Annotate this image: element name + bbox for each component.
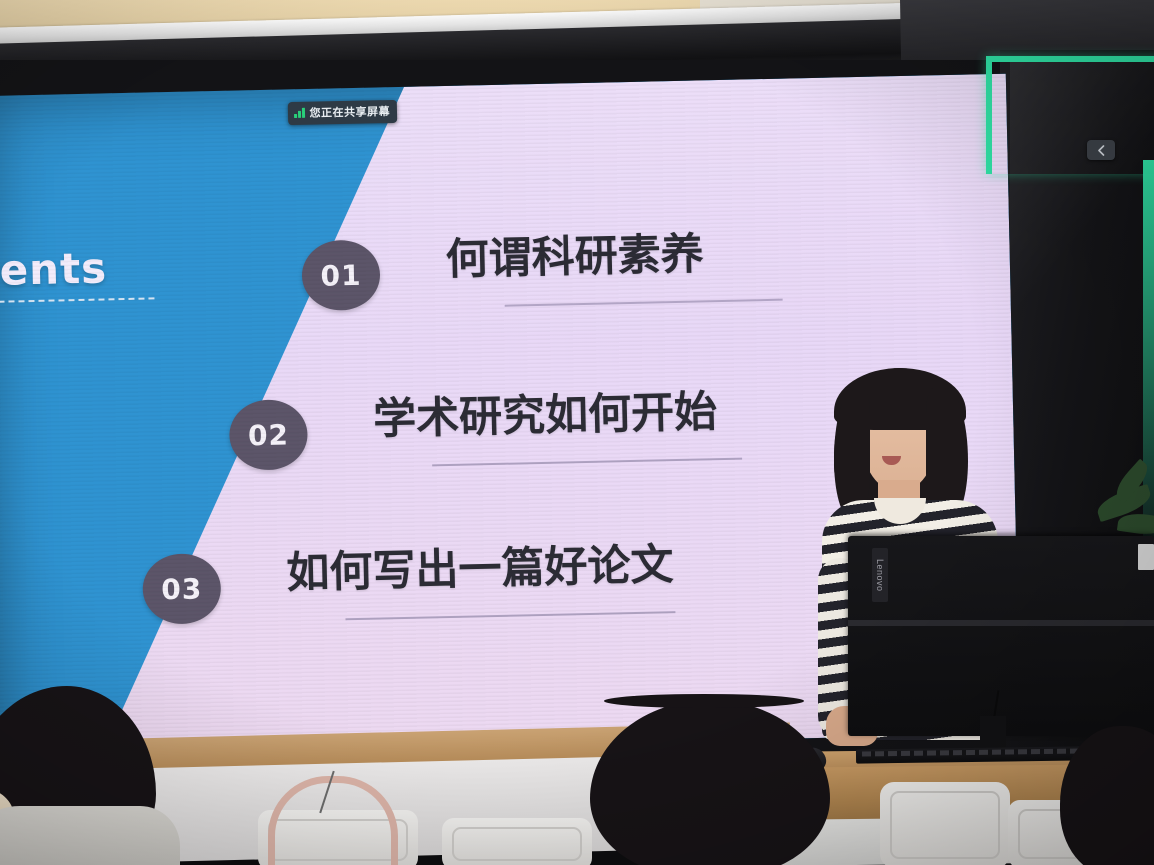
podium-monitor-seam xyxy=(848,620,1154,626)
slide-item-badge: 02 xyxy=(229,399,309,471)
audience-head xyxy=(590,700,830,865)
audience-hair-strands xyxy=(604,694,804,708)
chair xyxy=(880,782,1010,865)
slide-item-body: 学术研究如何开始 xyxy=(373,390,742,468)
slide-item-title: 学术研究如何开始 xyxy=(373,390,742,444)
audience-head xyxy=(1060,726,1154,865)
slide-item-01: 01 何谓科研素养 xyxy=(301,231,782,311)
slide-item-body: 如何写出一篇好论文 xyxy=(286,543,675,621)
podium-monitor xyxy=(848,536,1154,736)
monitor-asset-tag xyxy=(1138,544,1154,570)
chevron-left-icon xyxy=(1097,145,1106,156)
screen-share-label: 您正在共享屏幕 xyxy=(309,103,390,121)
slide-item-body: 何谓科研素养 xyxy=(445,231,782,308)
slide-item-badge: 01 xyxy=(301,239,381,311)
slide-heading-group: ontents xyxy=(0,242,178,305)
collapse-panel-button[interactable] xyxy=(1087,140,1115,160)
slide-item-02: 02 学术研究如何开始 xyxy=(229,390,742,471)
slide-item-03: 03 如何写出一篇好论文 xyxy=(142,543,675,625)
slide-item-badge: 03 xyxy=(142,553,222,625)
audience-member-center xyxy=(580,700,880,865)
slide-heading: ontents xyxy=(0,242,178,297)
screenshot-stage: ontents 01 何谓科研素养 02 学术研究如何开始 03 如何写出一篇好… xyxy=(0,0,1154,865)
signal-bars-icon xyxy=(294,108,305,118)
screen-share-banner: 您正在共享屏幕 xyxy=(288,100,397,125)
presenter-hair-left xyxy=(834,390,870,518)
monitor-brand-label: Lenovo xyxy=(872,548,888,602)
audience-shoulder-left xyxy=(0,806,180,865)
slide-item-title: 何谓科研素养 xyxy=(445,231,782,284)
slide-item-title: 如何写出一篇好论文 xyxy=(286,543,675,597)
chair xyxy=(442,818,592,865)
screen-share-border xyxy=(986,56,1154,174)
audience-member-right xyxy=(1020,726,1154,865)
slide-heading-rule xyxy=(0,297,154,304)
